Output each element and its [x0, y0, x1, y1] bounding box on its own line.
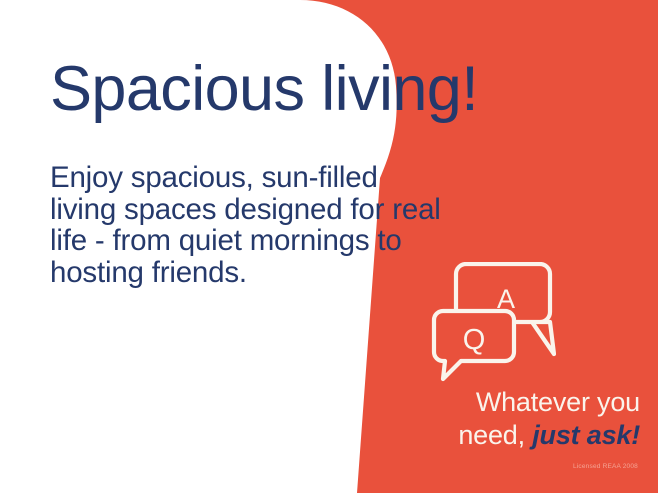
body-copy-line: living spaces designed for real — [50, 194, 420, 226]
tagline-line-2: need, just ask! — [420, 419, 640, 452]
property-advert-banner: Spacious living! Enjoy spacious, sun-fil… — [0, 0, 658, 493]
body-copy-line: hosting friends. — [50, 257, 420, 289]
right-brand-column: A Q Whatever you need, just ask! License… — [418, 0, 658, 493]
tagline: Whatever you need, just ask! — [420, 386, 640, 452]
left-text-column: Spacious living! Enjoy spacious, sun-fil… — [0, 0, 420, 493]
question-letter: Q — [463, 324, 486, 356]
body-copy: Enjoy spacious, sun-filled living spaces… — [50, 162, 420, 288]
tagline-prefix: need, — [458, 420, 525, 450]
body-copy-line: life - from quiet mornings to — [50, 225, 420, 257]
tagline-accent: just ask! — [532, 420, 640, 450]
body-copy-line: Enjoy spacious, sun-filled — [50, 162, 420, 194]
question-answer-speech-bubbles-icon: A Q — [430, 262, 556, 386]
tagline-line-1: Whatever you — [420, 386, 640, 419]
page-title: Spacious living! — [50, 58, 478, 121]
licence-notice: Licensed REAA 2008 — [573, 463, 638, 470]
